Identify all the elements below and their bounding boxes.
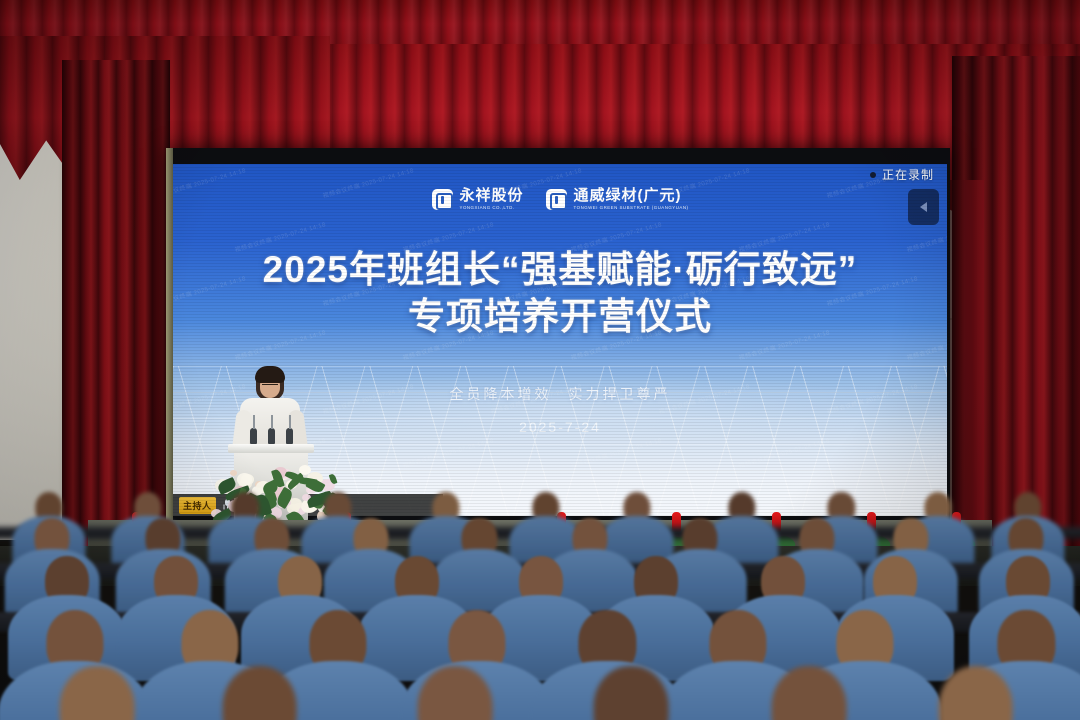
microphone [268,428,275,444]
recording-status: 正在录制 [870,166,934,183]
audience-head [60,666,135,720]
audience-member [355,666,556,720]
microphone [250,428,257,444]
led-screen-bezel [166,148,173,520]
microphone-group [250,410,296,444]
logo-yongxiang-cn: 永祥股份 [460,188,524,203]
speaker-hair [255,366,285,383]
slide-title-block: 2025年班组长“强基赋能·砺行致远” 专项培养开营仪式 [173,246,947,341]
logo-yongxiang: 永祥股份 YONGXIANG CO.,LTD. [432,188,524,210]
audience-head [938,666,1013,720]
collapse-panel-button[interactable] [908,189,939,225]
chevron-left-icon [920,202,927,212]
podium-top [228,444,314,453]
audience-member [875,666,1076,720]
audience-member [531,666,732,720]
hexagon-cube-icon [432,189,453,210]
logo-tongwei: 通威绿材(广元) TONGWEI GREEN SUBSTRATE (GUANGY… [546,188,689,210]
logo-tongwei-cn: 通威绿材(广元) [574,188,689,203]
logo-yongxiang-en: YONGXIANG CO.,LTD. [460,206,524,210]
slide-logo-row: 永祥股份 YONGXIANG CO.,LTD. 通威绿材(广元) TONGWEI… [173,188,947,210]
audience-head [594,666,669,720]
slide-title-line-1: 2025年班组长“强基赋能·砺行致远” [173,246,947,293]
audience-head [772,666,847,720]
microphone [286,428,293,444]
slide-title-line-2: 专项培养开营仪式 [173,293,947,340]
audience-member [159,666,360,720]
audience-head [418,666,493,720]
auditorium-scene: 视频会议终端 2025-07-24 14:18视频会议终端 2025-07-24… [0,0,1080,720]
hexagon-cube-icon [546,189,567,210]
speaker-glasses [262,384,278,388]
record-dot-icon [870,172,876,178]
recording-label: 正在录制 [882,166,934,183]
audience-area [0,470,1080,720]
logo-tongwei-en: TONGWEI GREEN SUBSTRATE (GUANGYUAN) [574,206,689,210]
audience-head [222,666,297,720]
